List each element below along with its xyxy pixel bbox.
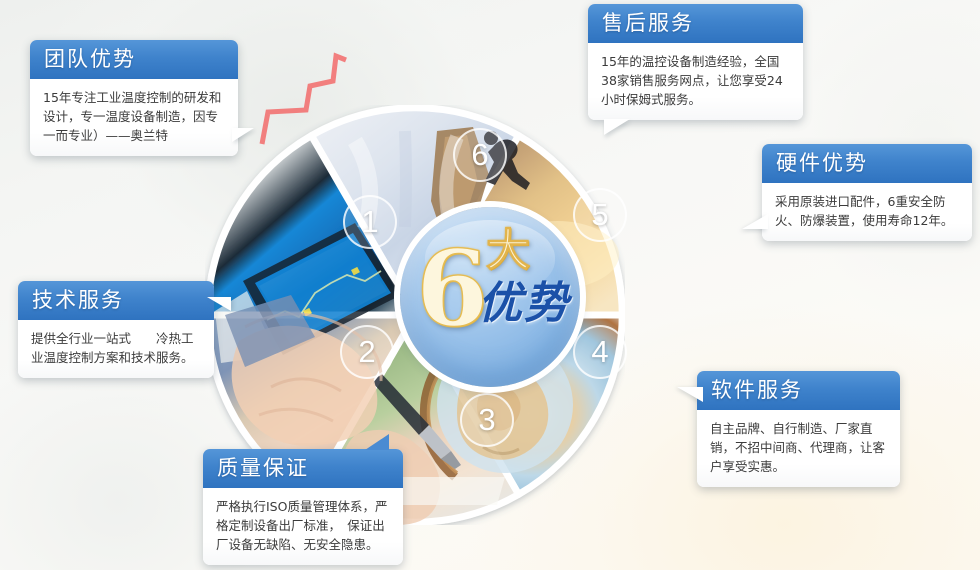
medallion-text: 6 大 优势 [400, 207, 580, 387]
callout-quality[interactable]: 质量保证 严格执行ISO质量管理体系，严格定制设备出厂标准， 保证出厂设备无缺陷… [203, 449, 403, 565]
callout-tech-title: 技术服务 [18, 281, 214, 320]
callout-software-body: 自主品牌、自行制造、厂家直销，不招中间商、代理商，让客户享受实惠。 [697, 410, 900, 487]
callout-software-title: 软件服务 [697, 371, 900, 410]
segment-badge-3[interactable]: 3 [460, 393, 514, 447]
callout-quality-title: 质量保证 [203, 449, 403, 488]
callout-software[interactable]: 软件服务 自主品牌、自行制造、厂家直销，不招中间商、代理商，让客户享受实惠。 [697, 371, 900, 487]
callout-quality-body: 严格执行ISO质量管理体系，严格定制设备出厂标准， 保证出厂设备无缺陷、无安全隐… [203, 488, 403, 565]
callout-software-tail [677, 387, 703, 402]
callout-aftersale-title: 售后服务 [588, 4, 803, 43]
segment-badge-1[interactable]: 1 [343, 195, 397, 249]
infographic-canvas: 1 2 3 4 5 6 6 大 优势 团队优势 15年专注工业温度控制的研发和设… [0, 0, 980, 570]
callout-aftersale-body: 15年的温控设备制造经验，全国38家销售服务网点，让您享受24小时保姆式服务。 [588, 43, 803, 120]
callout-team-body: 15年专注工业温度控制的研发和设计，专一温度设备制造，因专一而专业）——奥兰特 [30, 79, 238, 156]
callout-hardware-title: 硬件优势 [762, 144, 972, 183]
callout-tech-body: 提供全行业一站式 冷热工业温度控制方案和技术服务。 [18, 320, 214, 378]
segment-badge-4[interactable]: 4 [573, 325, 627, 379]
callout-hardware-body: 采用原装进口配件，6重安全防火、防爆装置，使用寿命12年。 [762, 183, 972, 241]
callout-aftersale[interactable]: 售后服务 15年的温控设备制造经验，全国38家销售服务网点，让您享受24小时保姆… [588, 4, 803, 120]
callout-tech-tail [207, 297, 231, 311]
callout-aftersale-tail [604, 119, 630, 135]
center-medallion[interactable]: 6 大 优势 [400, 207, 580, 387]
segment-badge-6[interactable]: 6 [453, 128, 507, 182]
callout-team-tail [232, 128, 254, 142]
medallion-unit: 大 [486, 229, 530, 273]
callout-quality-tail [365, 434, 389, 450]
medallion-word: 优势 [478, 281, 570, 327]
red-zigzag-chart-icon [258, 48, 408, 148]
segment-badge-2[interactable]: 2 [340, 325, 394, 379]
callout-team-title: 团队优势 [30, 40, 238, 79]
segment-badge-5[interactable]: 5 [573, 188, 627, 242]
callout-tech[interactable]: 技术服务 提供全行业一站式 冷热工业温度控制方案和技术服务。 [18, 281, 214, 378]
medallion-number: 6 [416, 237, 485, 341]
callout-team[interactable]: 团队优势 15年专注工业温度控制的研发和设计，专一温度设备制造，因专一而专业）—… [30, 40, 238, 156]
callout-hardware-tail [742, 214, 768, 229]
callout-hardware[interactable]: 硬件优势 采用原装进口配件，6重安全防火、防爆装置，使用寿命12年。 [762, 144, 972, 241]
